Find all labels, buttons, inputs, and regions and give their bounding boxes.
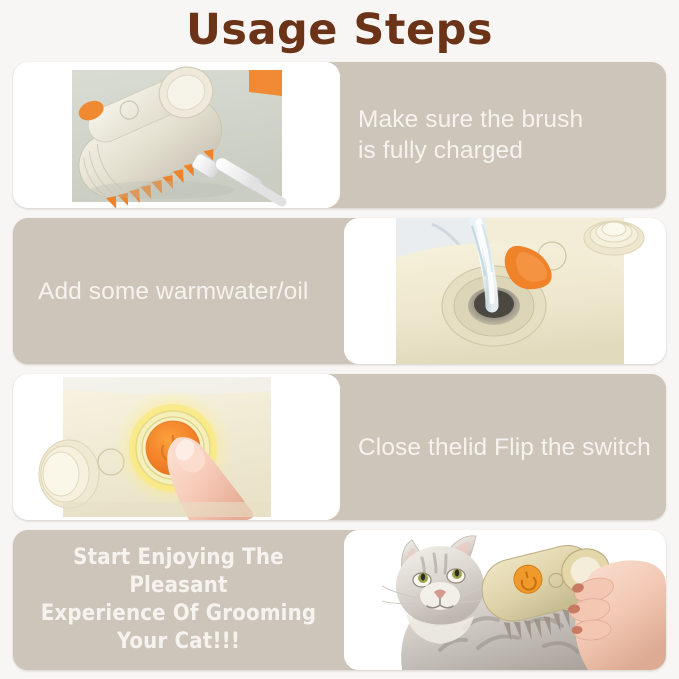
page-title: Usage Steps xyxy=(0,3,679,57)
step-4-caption-line-1: Start Enjoying The Pleasant xyxy=(27,544,330,600)
step-1-caption-line-1: Make sure the brush xyxy=(358,106,583,133)
step-panel-1: Make sure the brush is fully charged xyxy=(13,62,666,208)
step-2-image-card xyxy=(344,218,666,364)
step-4-caption-line-3: Your Cat!!! xyxy=(27,628,330,656)
step-2-caption: Add some warmwater/oil xyxy=(13,218,344,364)
usage-steps-infographic: Usage Steps xyxy=(0,0,679,679)
step-4-image-card xyxy=(344,530,666,670)
step-2-caption-line-1: Add some warmwater/oil xyxy=(38,276,308,307)
water-fill-photo xyxy=(344,218,666,364)
step-1-caption-line-2: is fully charged xyxy=(358,137,523,164)
step-4-caption: Start Enjoying The Pleasant Experience O… xyxy=(13,530,344,670)
step-panel-2: Add some warmwater/oil xyxy=(13,218,666,364)
step-panel-4: Start Enjoying The Pleasant Experience O… xyxy=(13,530,666,670)
cat-grooming-photo xyxy=(344,530,666,670)
brush-charging-photo xyxy=(13,62,340,208)
power-button-photo xyxy=(13,374,340,520)
step-3-caption-line-1: Close thelid Flip the switch xyxy=(358,432,651,463)
step-3-caption: Close thelid Flip the switch xyxy=(340,374,666,520)
step-1-caption: Make sure the brush is fully charged xyxy=(340,62,666,208)
step-1-image-card xyxy=(13,62,340,208)
step-4-caption-line-2: Experience Of Grooming xyxy=(27,600,330,628)
step-panel-3: Close thelid Flip the switch xyxy=(13,374,666,520)
step-3-image-card xyxy=(13,374,340,520)
